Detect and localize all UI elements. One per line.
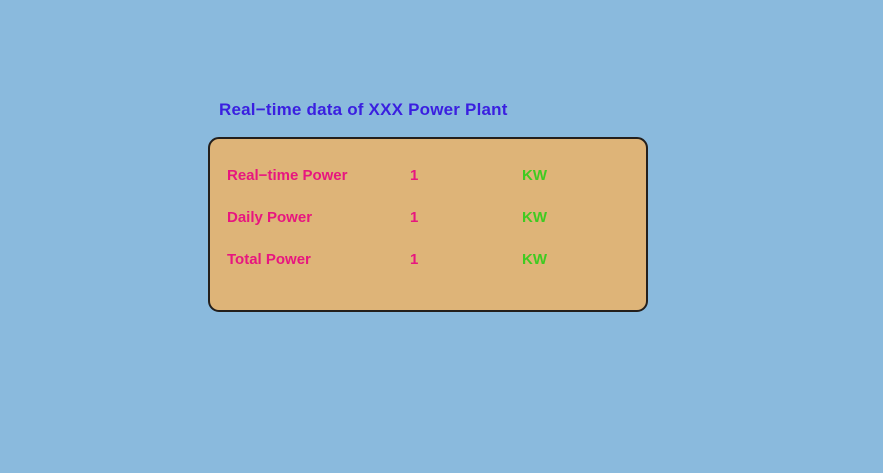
realtime-data-panel: Real−time Power 1 KW Daily Power 1 KW To…: [208, 137, 648, 312]
app-screen: Real−time data of XXX Power Plant Real−t…: [0, 0, 883, 473]
row-label: Real−time Power: [227, 167, 347, 184]
data-row-total-power: Total Power 1 KW: [210, 251, 646, 271]
row-value: 1: [410, 251, 418, 268]
row-unit: KW: [522, 167, 547, 184]
row-value: 1: [410, 167, 418, 184]
row-label: Daily Power: [227, 209, 312, 226]
data-row-realtime-power: Real−time Power 1 KW: [210, 167, 646, 187]
row-unit: KW: [522, 209, 547, 226]
page-title: Real−time data of XXX Power Plant: [219, 100, 508, 120]
row-label: Total Power: [227, 251, 311, 268]
row-value: 1: [410, 209, 418, 226]
row-unit: KW: [522, 251, 547, 268]
data-row-daily-power: Daily Power 1 KW: [210, 209, 646, 229]
